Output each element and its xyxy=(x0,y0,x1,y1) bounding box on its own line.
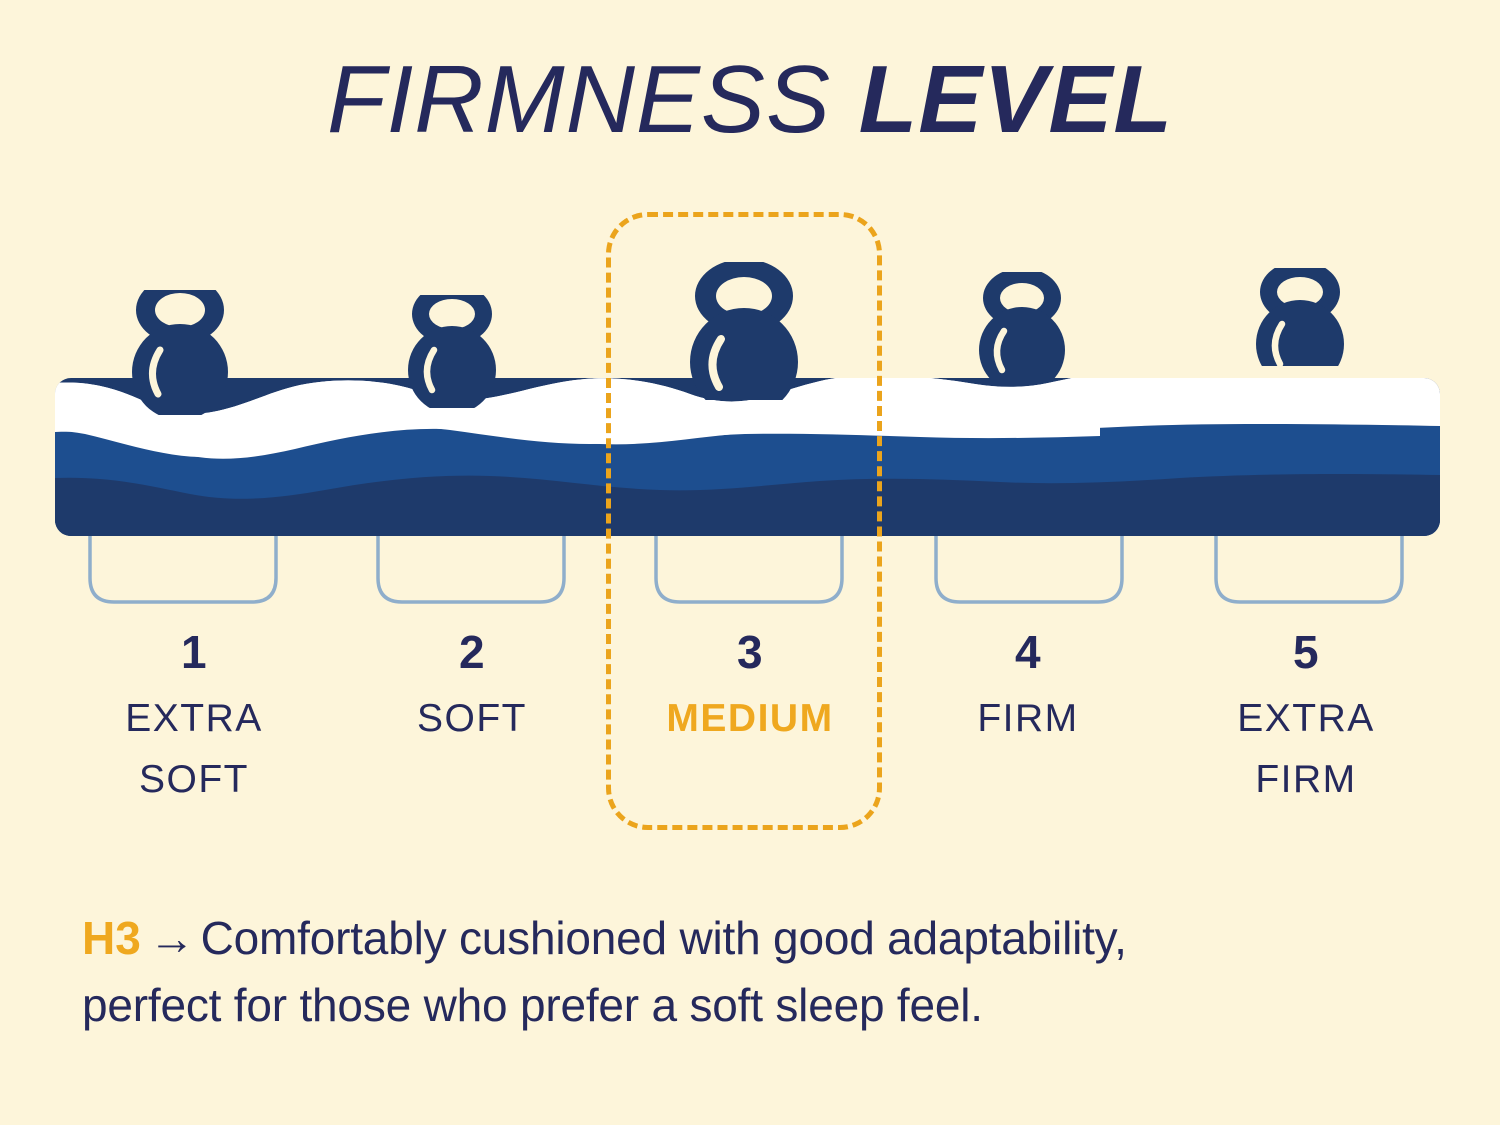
level-label-line: SOFT xyxy=(333,689,611,749)
kettlebell-icon-level-5 xyxy=(1256,261,1344,388)
kettlebell-icon-level-4 xyxy=(979,268,1065,393)
scale-item-level-4[interactable]: 4 FIRM xyxy=(889,628,1167,848)
page-title-part1: FIRMNESS xyxy=(327,46,831,153)
scale-item-level-1[interactable]: 1 EXTRA SOFT xyxy=(55,628,333,848)
level-label: EXTRA SOFT xyxy=(55,689,333,810)
level-label: EXTRA FIRM xyxy=(1167,689,1445,810)
description-line-1: H3→Comfortably cushioned with good adapt… xyxy=(82,905,1372,972)
firmness-tag-badge: H3 xyxy=(82,912,141,964)
infographic-canvas: FIRMNESS LEVEL xyxy=(0,0,1500,1125)
description-line-2: perfect for those who prefer a soft slee… xyxy=(82,972,1372,1039)
level-label-line: MEDIUM xyxy=(611,689,889,749)
level-label: FIRM xyxy=(889,689,1167,749)
level-number: 5 xyxy=(1167,628,1445,676)
kettlebell-icon-level-2 xyxy=(408,283,496,414)
scale-item-level-3[interactable]: 3 MEDIUM xyxy=(611,628,889,848)
level-number: 1 xyxy=(55,628,333,676)
description-text-line-1: Comfortably cushioned with good adaptabi… xyxy=(201,912,1127,964)
kettlebell-icon-level-1 xyxy=(132,276,228,420)
arrow-right-icon: → xyxy=(141,912,201,964)
level-label: MEDIUM xyxy=(611,689,889,749)
page-title: FIRMNESS LEVEL xyxy=(0,52,1500,148)
level-number: 2 xyxy=(333,628,611,676)
level-number: 4 xyxy=(889,628,1167,676)
level-label: SOFT xyxy=(333,689,611,749)
level-label-line: EXTRA xyxy=(55,689,333,749)
firmness-scale: 1 EXTRA SOFT 2 SOFT 3 MEDIUM 4 FIRM xyxy=(55,628,1445,848)
level-label-line: FIRM xyxy=(1167,750,1445,810)
page-title-part2: LEVEL xyxy=(859,46,1173,153)
level-number: 3 xyxy=(611,628,889,676)
level-label-line: EXTRA xyxy=(1167,689,1445,749)
scale-item-level-2[interactable]: 2 SOFT xyxy=(333,628,611,848)
level-label-line: SOFT xyxy=(55,750,333,810)
page-title-space xyxy=(831,46,859,153)
scale-item-level-5[interactable]: 5 EXTRA FIRM xyxy=(1167,628,1445,848)
level-label-line: FIRM xyxy=(889,689,1167,749)
description-block: H3→Comfortably cushioned with good adapt… xyxy=(82,905,1372,1038)
